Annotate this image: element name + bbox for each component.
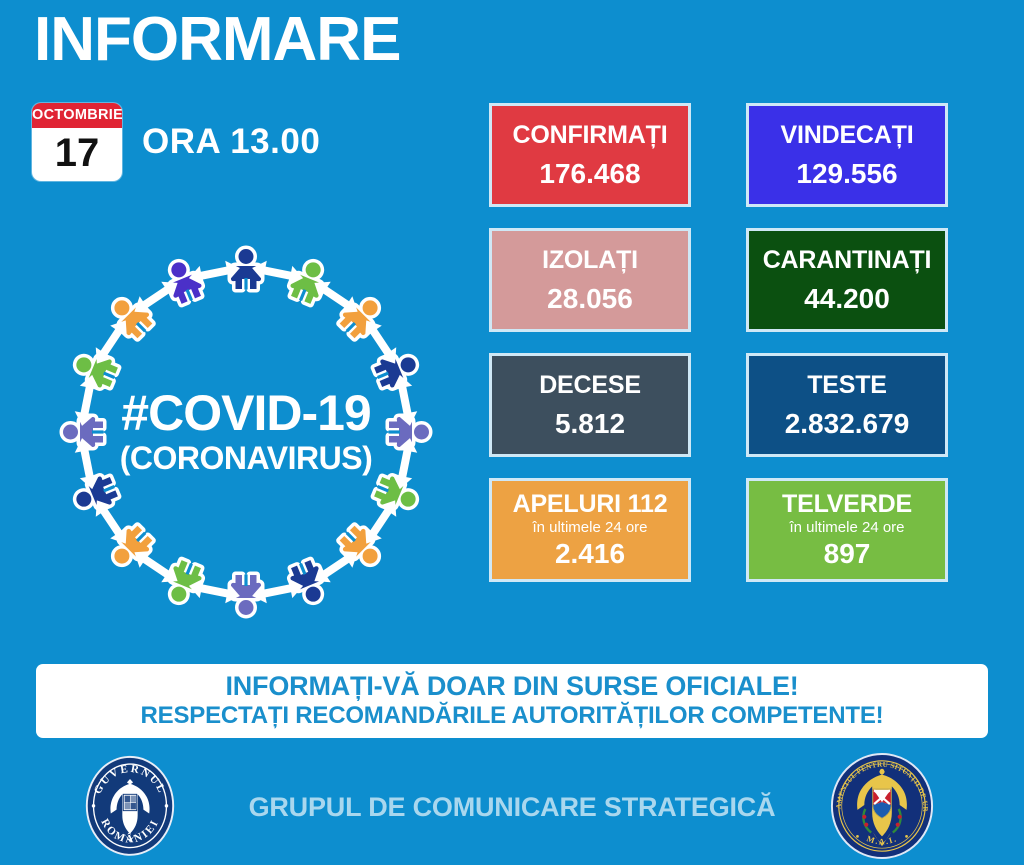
time-label: ORA 13.00 [142,122,320,162]
stat-box-telverde: TELVERDEîn ultimele 24 ore897 [746,478,948,582]
stat-label-vindecati: VINDECAȚI [781,121,914,149]
stat-value-carantinati: 44.200 [804,284,890,315]
stat-value-izolati: 28.056 [547,284,633,315]
stat-value-apeluri-112: 2.416 [555,539,625,570]
stat-label-apeluri-112: APELURI 112 [513,490,668,518]
dsu-logo: DEPARTAMENTUL PENTRU SITUAȚII DE URGENȚĂ… [828,752,936,860]
stat-label-teste: TESTE [807,371,887,399]
stat-value-telverde: 897 [824,539,871,570]
footer: GUVERNUL ROMÂNIEI [0,752,1024,860]
stat-value-confirmati: 176.468 [539,159,640,190]
stat-box-apeluri-112: APELURI 112în ultimele 24 ore2.416 [489,478,691,582]
stat-label-decese: DECESE [539,371,641,399]
stat-label-carantinati: CARANTINAȚI [763,246,932,274]
stat-sublabel-apeluri-112: în ultimele 24 ore [532,519,647,536]
notice-line-1: INFORMAȚI-VĂ DOAR DIN SURSE OFICIALE! [225,671,798,702]
stat-box-confirmati: CONFIRMAȚI176.468 [489,103,691,207]
stat-box-izolati: IZOLAȚI28.056 [489,228,691,332]
stat-value-decese: 5.812 [555,409,625,440]
stat-label-izolati: IZOLAȚI [542,246,638,274]
infographic-root: INFORMARE OCTOMBRIE 17 ORA 13.00 [0,0,1024,860]
official-sources-notice: INFORMAȚI-VĂ DOAR DIN SURSE OFICIALE! RE… [36,664,988,738]
stat-box-decese: DECESE5.812 [489,353,691,457]
stat-label-confirmati: CONFIRMAȚI [513,121,668,149]
calendar-day-label: 17 [32,128,122,181]
stat-value-teste: 2.832.679 [785,409,910,440]
stat-label-telverde: TELVERDE [782,490,912,518]
stats-grid: CONFIRMAȚI176.468VINDECAȚI129.556IZOLAȚI… [489,103,989,582]
calendar-icon: OCTOMBRIE 17 [32,103,122,181]
stat-sublabel-telverde: în ultimele 24 ore [789,519,904,536]
stat-value-vindecati: 129.556 [796,159,897,190]
circle-people-group [63,249,429,615]
page-title: INFORMARE [34,6,400,74]
date-time-row: OCTOMBRIE 17 ORA 13.00 [32,103,320,181]
calendar-month-label: OCTOMBRIE [32,103,122,128]
stat-box-teste: TESTE2.832.679 [746,353,948,457]
notice-line-2: RESPECTAȚI RECOMANDĂRILE AUTORITĂȚILOR C… [141,702,884,731]
stat-box-carantinati: CARANTINAȚI44.200 [746,228,948,332]
covid-people-circle-graphic [36,222,456,642]
stat-box-vindecati: VINDECAȚI129.556 [746,103,948,207]
